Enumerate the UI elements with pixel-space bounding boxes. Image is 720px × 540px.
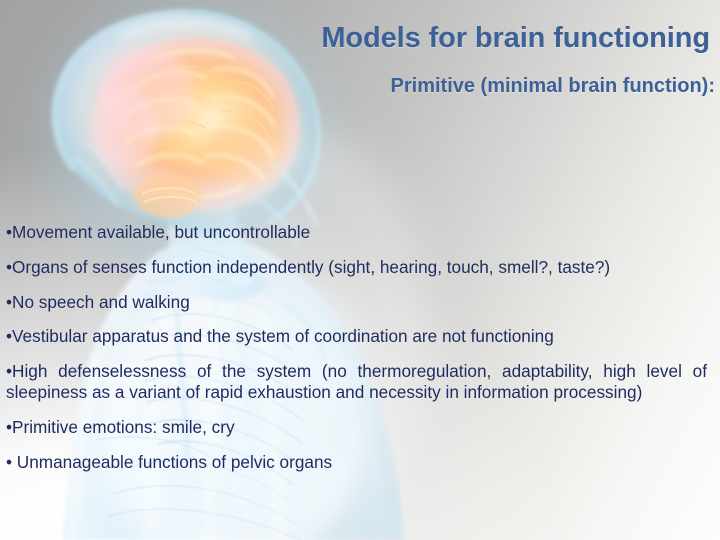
list-item: •Movement available, but uncontrollable xyxy=(0,222,716,243)
list-item-text: Unmanageable functions of pelvic organs xyxy=(17,452,332,472)
slide-title: Models for brain functioning xyxy=(210,22,710,55)
list-item: •Vestibular apparatus and the system of … xyxy=(0,326,716,347)
slide-subtitle: Primitive (minimal brain function): xyxy=(210,75,715,98)
bullet-marker: • xyxy=(6,452,17,472)
list-item-text: Vestibular apparatus and the system of c… xyxy=(12,326,554,346)
presentation-slide: Models for brain functioning Primitive (… xyxy=(0,0,720,540)
list-item: •Primitive emotions: smile, cry xyxy=(0,417,716,438)
list-item-text: Primitive emotions: smile, cry xyxy=(12,417,235,437)
list-item-text: High defenselessness of the system (no t… xyxy=(6,361,707,402)
bullet-list: •Movement available, but uncontrollable … xyxy=(0,222,716,473)
list-item-text: No speech and walking xyxy=(12,292,190,312)
list-item-text: Organs of senses function independently … xyxy=(12,257,610,277)
list-item: •No speech and walking xyxy=(0,292,716,313)
list-item-text: Movement available, but uncontrollable xyxy=(12,222,310,242)
list-item: • Unmanageable functions of pelvic organ… xyxy=(0,452,716,473)
list-item: •High defenselessness of the system (no … xyxy=(0,361,716,403)
list-item: •Organs of senses function independently… xyxy=(0,257,716,278)
